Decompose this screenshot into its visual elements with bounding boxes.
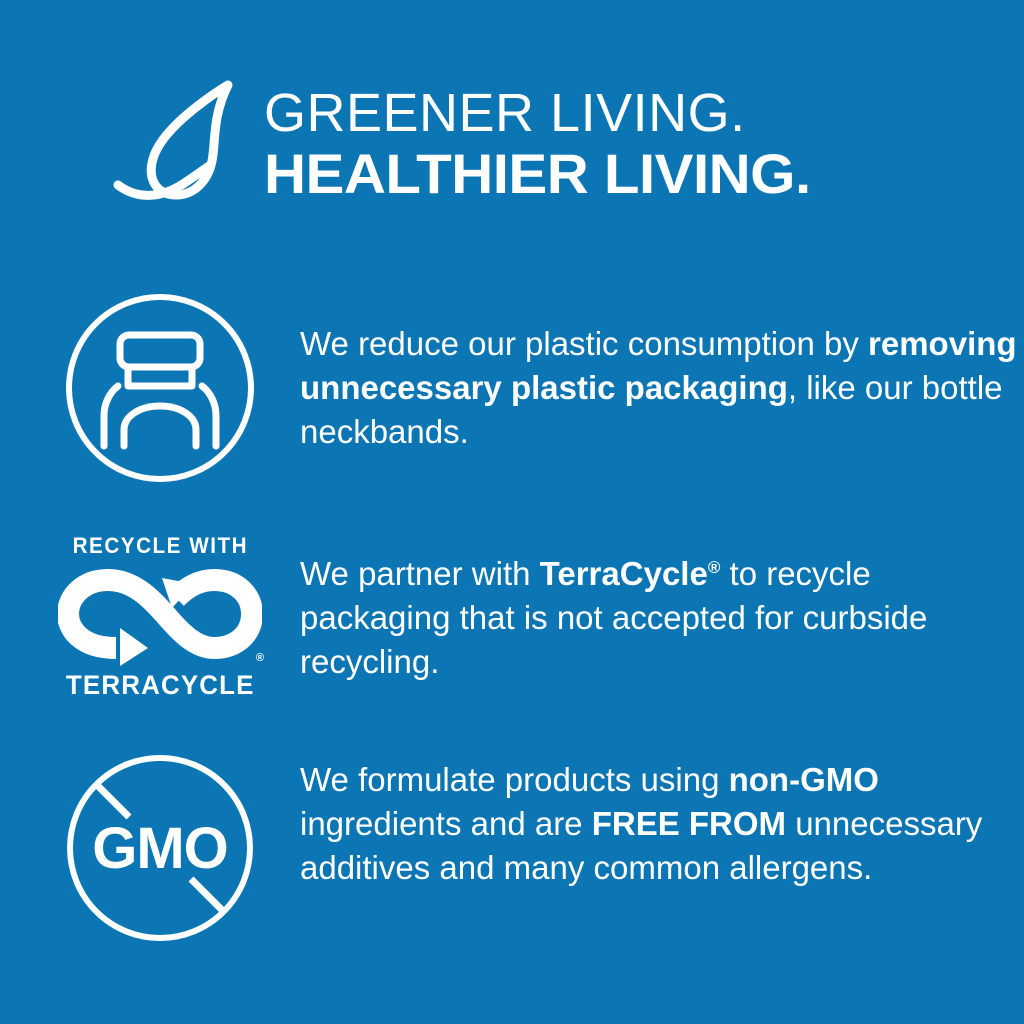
terracycle-wordmark: TERRACYCLE	[66, 670, 255, 700]
benefit-text-cell-1: We reduce our plastic consumption by rem…	[300, 288, 1024, 454]
paragraph-2-segment-1: We partner with	[300, 555, 540, 592]
paragraph-3-segment-4: FREE FROM	[592, 805, 786, 842]
paragraph-1-segment-1: We reduce our plastic consumption by	[300, 325, 868, 362]
gmo-label: GMO	[63, 751, 257, 945]
benefit-row-terracycle: RECYCLE WITH ® TERRACYCLE We partner wit…	[0, 522, 1024, 712]
benefit-text-cell-3: We formulate products using non-GMO ingr…	[300, 748, 1024, 890]
leaf-icon	[108, 73, 258, 223]
greener-living-poster: GREENER LIVING. HEALTHIER LIVING. We red…	[0, 0, 1024, 1024]
bottle-neckband-icon	[62, 290, 258, 486]
terracycle-logo: RECYCLE WITH ® TERRACYCLE	[57, 534, 263, 700]
benefit-row-plastic-reduction: We reduce our plastic consumption by rem…	[0, 288, 1024, 488]
benefit-text-cell-2: We partner with TerraCycle® to recycle p…	[300, 522, 1024, 684]
infinity-recycle-arrows-icon: ®	[58, 562, 262, 666]
bottle-neckband-icon-cell	[0, 288, 300, 488]
no-gmo-icon: GMO	[63, 751, 257, 945]
paragraph-2-registered-mark: ®	[708, 558, 721, 577]
benefit-paragraph-3: We formulate products using non-GMO ingr…	[300, 758, 1024, 890]
paragraph-3-segment-2: non-GMO	[729, 761, 879, 798]
paragraph-3-segment-3: ingredients and are	[300, 805, 592, 842]
no-gmo-icon-cell: GMO	[0, 748, 300, 948]
poster-header: GREENER LIVING. HEALTHIER LIVING.	[0, 62, 1024, 230]
paragraph-3-segment-1: We formulate products using	[300, 761, 729, 798]
terracycle-top-label: RECYCLE WITH	[72, 534, 247, 558]
benefit-row-non-gmo: GMO We formulate products using non-GMO …	[0, 748, 1024, 948]
benefit-paragraph-2: We partner with TerraCycle® to recycle p…	[300, 552, 1024, 684]
page-title-line-1: GREENER LIVING.	[264, 83, 790, 143]
page-title-line-2: HEALTHIER LIVING.	[264, 143, 811, 205]
header-text-block: GREENER LIVING. HEALTHIER LIVING.	[264, 83, 790, 205]
benefit-paragraph-1: We reduce our plastic consumption by rem…	[300, 322, 1024, 454]
terracycle-logo-cell: RECYCLE WITH ® TERRACYCLE	[0, 522, 300, 712]
terracycle-registered-mark: ®	[256, 652, 264, 664]
paragraph-2-segment-2: TerraCycle	[540, 555, 708, 592]
